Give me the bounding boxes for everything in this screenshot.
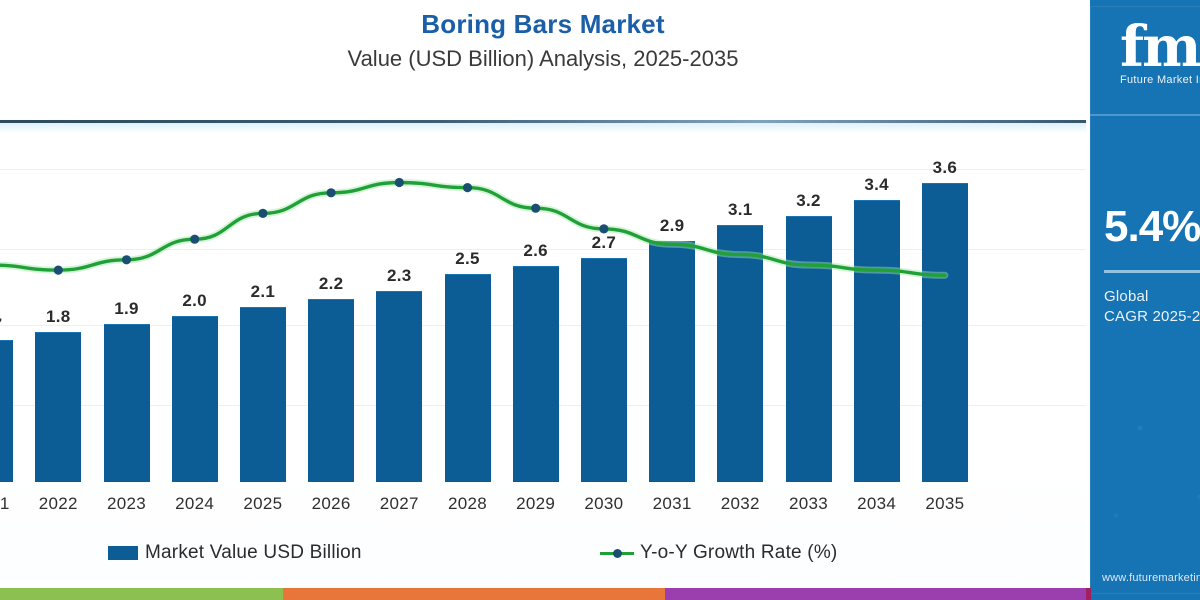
bar-value-label: 2.5 (438, 249, 498, 269)
bar[interactable] (854, 200, 900, 482)
bar[interactable] (649, 241, 695, 482)
cagr-caption-line2: CAGR 2025-2035 (1104, 308, 1200, 325)
legend-item-bar[interactable]: Market Value USD Billion (108, 540, 362, 566)
x-axis-tick-label: 2021 (0, 494, 24, 514)
chart-legend: Market Value USD Billion Y-o-Y Growth Ra… (0, 540, 1086, 576)
strip-segment-orange (283, 588, 665, 600)
bar[interactable] (786, 216, 832, 482)
bar-value-label: 3.6 (915, 158, 975, 178)
bar-value-label: 3.2 (779, 191, 839, 211)
cagr-underline (1104, 270, 1200, 273)
x-axis-tick-label: 2025 (229, 494, 297, 514)
bar-value-label: 3.1 (710, 200, 770, 220)
bar[interactable] (513, 266, 559, 482)
bar-value-label: 2.9 (642, 216, 702, 236)
x-axis-tick-label: 2023 (93, 494, 161, 514)
strip-segment-green (0, 588, 283, 600)
bar-value-label: 2.3 (369, 266, 429, 286)
legend-line-icon (600, 546, 634, 560)
bar[interactable] (172, 316, 218, 482)
bar[interactable] (581, 258, 627, 482)
fmi-logo-text: fmi (1120, 16, 1200, 78)
bar-value-label: 2.0 (165, 291, 225, 311)
fmi-logo: fmi Future Market Insights (1120, 16, 1200, 94)
sidebar-url[interactable]: www.futuremarketinsights.com (1102, 572, 1200, 584)
x-axis-tick-label: 2031 (638, 494, 706, 514)
legend-item-line[interactable]: Y-o-Y Growth Rate (%) (600, 540, 837, 566)
sidebar-watermark (1086, 336, 1200, 566)
bar[interactable] (717, 225, 763, 482)
bar[interactable] (308, 299, 354, 482)
brand-sidebar: fmi Future Market Insights 5.4% Global C… (1086, 0, 1200, 600)
bar-series: 1.71.81.92.02.12.22.32.52.62.72.93.13.23… (0, 134, 1086, 482)
bottom-color-strip (0, 588, 1086, 600)
x-axis-tick-label: 2035 (911, 494, 979, 514)
bar[interactable] (445, 274, 491, 482)
legend-label-bar: Market Value USD Billion (145, 542, 362, 564)
x-axis-tick-label: 2032 (706, 494, 774, 514)
strip-glow (0, 578, 1086, 588)
x-axis-tick-label: 2033 (775, 494, 843, 514)
fmi-logo-subtitle: Future Market Insights (1120, 74, 1200, 86)
legend-swatch-icon (108, 546, 138, 560)
bar[interactable] (376, 291, 422, 482)
x-axis-tick-label: 2022 (24, 494, 92, 514)
sidebar-left-accent (1086, 0, 1090, 600)
bar-value-label: 1.7 (0, 315, 20, 335)
sidebar-top-divider (1090, 114, 1200, 116)
bar-value-label: 2.6 (506, 241, 566, 261)
chart-subtitle: Value (USD Billion) Analysis, 2025-2035 (0, 40, 1086, 74)
x-axis-tick-label: 2026 (297, 494, 365, 514)
bar[interactable] (240, 307, 286, 482)
bar[interactable] (35, 332, 81, 482)
strip-segment-purple (665, 588, 1086, 600)
chart-title: Boring Bars Market (0, 8, 1086, 40)
x-axis-tick-label: 2028 (434, 494, 502, 514)
cagr-value: 5.4% (1104, 202, 1200, 252)
chart-infographic: Boring Bars Market Value (USD Billion) A… (0, 0, 1200, 600)
chart-header: Boring Bars Market Value (USD Billion) A… (0, 8, 1086, 74)
bar-value-label: 2.1 (233, 282, 293, 302)
sidebar-corner-accent (1086, 588, 1091, 600)
chart-panel: Boring Bars Market Value (USD Billion) A… (0, 0, 1086, 600)
bar-value-label: 2.2 (301, 274, 361, 294)
x-axis-tick-label: 2024 (161, 494, 229, 514)
x-axis-labels: 2021202220232024202520262027202820292030… (0, 494, 1086, 524)
bar-value-label: 1.8 (28, 307, 88, 327)
x-axis-tick-label: 2030 (570, 494, 638, 514)
legend-label-line: Y-o-Y Growth Rate (%) (640, 542, 837, 564)
x-axis-tick-label: 2034 (843, 494, 911, 514)
bar[interactable] (104, 324, 150, 482)
bar-value-label: 1.9 (97, 299, 157, 319)
x-axis-tick-label: 2029 (502, 494, 570, 514)
bar[interactable] (0, 340, 13, 482)
x-axis-tick-label: 2027 (365, 494, 433, 514)
cagr-caption-line1: Global (1104, 288, 1200, 305)
sidebar-inner: fmi Future Market Insights 5.4% Global C… (1090, 6, 1200, 594)
header-glow (0, 123, 1086, 133)
bar-value-label: 2.7 (574, 233, 634, 253)
bar[interactable] (922, 183, 968, 482)
bar-value-label: 3.4 (847, 175, 907, 195)
